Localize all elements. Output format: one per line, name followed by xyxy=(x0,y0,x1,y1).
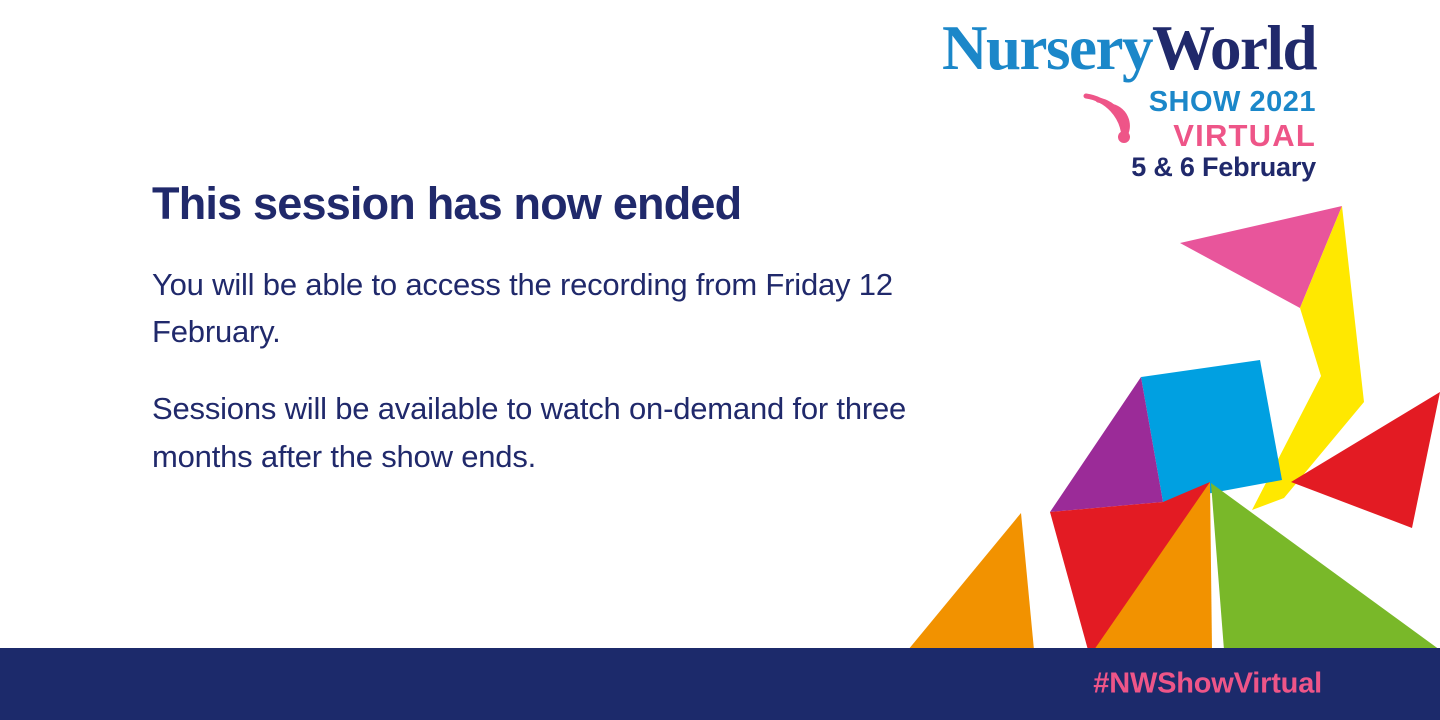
logo-word-world: World xyxy=(1152,13,1316,83)
shape-yellow-polygon xyxy=(1252,206,1364,510)
logo-wordmark: NurseryWorld xyxy=(886,18,1316,80)
event-hashtag: #NWShowVirtual xyxy=(1093,668,1322,701)
logo-word-nursery: Nursery xyxy=(942,13,1152,83)
shape-cyan-square xyxy=(1141,360,1282,502)
recording-availability-text: You will be able to access the recording… xyxy=(152,261,982,355)
footer-bar: #NWShowVirtual xyxy=(0,648,1440,720)
wifi-signal-icon xyxy=(1074,90,1138,148)
nursery-world-show-logo: NurseryWorld SHOW 2021 VIRTUAL 5 & 6 Feb… xyxy=(886,18,1316,174)
logo-event-date: 5 & 6 February xyxy=(1131,154,1316,181)
shape-orange-triangle-mid xyxy=(1094,482,1212,650)
shape-purple-triangle xyxy=(1050,377,1163,512)
shape-pink-triangle xyxy=(1180,206,1342,308)
message-block: This session has now ended You will be a… xyxy=(152,180,982,480)
slide-root: NurseryWorld SHOW 2021 VIRTUAL 5 & 6 Feb… xyxy=(0,0,1440,720)
shape-orange-triangle-left xyxy=(908,513,1034,650)
shape-red-triangle-right xyxy=(1291,392,1440,528)
shape-red-quad-center xyxy=(1050,482,1210,650)
shape-green-triangle xyxy=(1211,483,1440,650)
on-demand-duration-text: Sessions will be available to watch on-d… xyxy=(152,385,982,479)
logo-virtual: VIRTUAL xyxy=(1173,120,1316,151)
logo-lower-block: SHOW 2021 VIRTUAL 5 & 6 February xyxy=(886,82,1316,174)
page-title: This session has now ended xyxy=(152,180,982,227)
logo-show-year: SHOW 2021 xyxy=(1149,88,1316,117)
